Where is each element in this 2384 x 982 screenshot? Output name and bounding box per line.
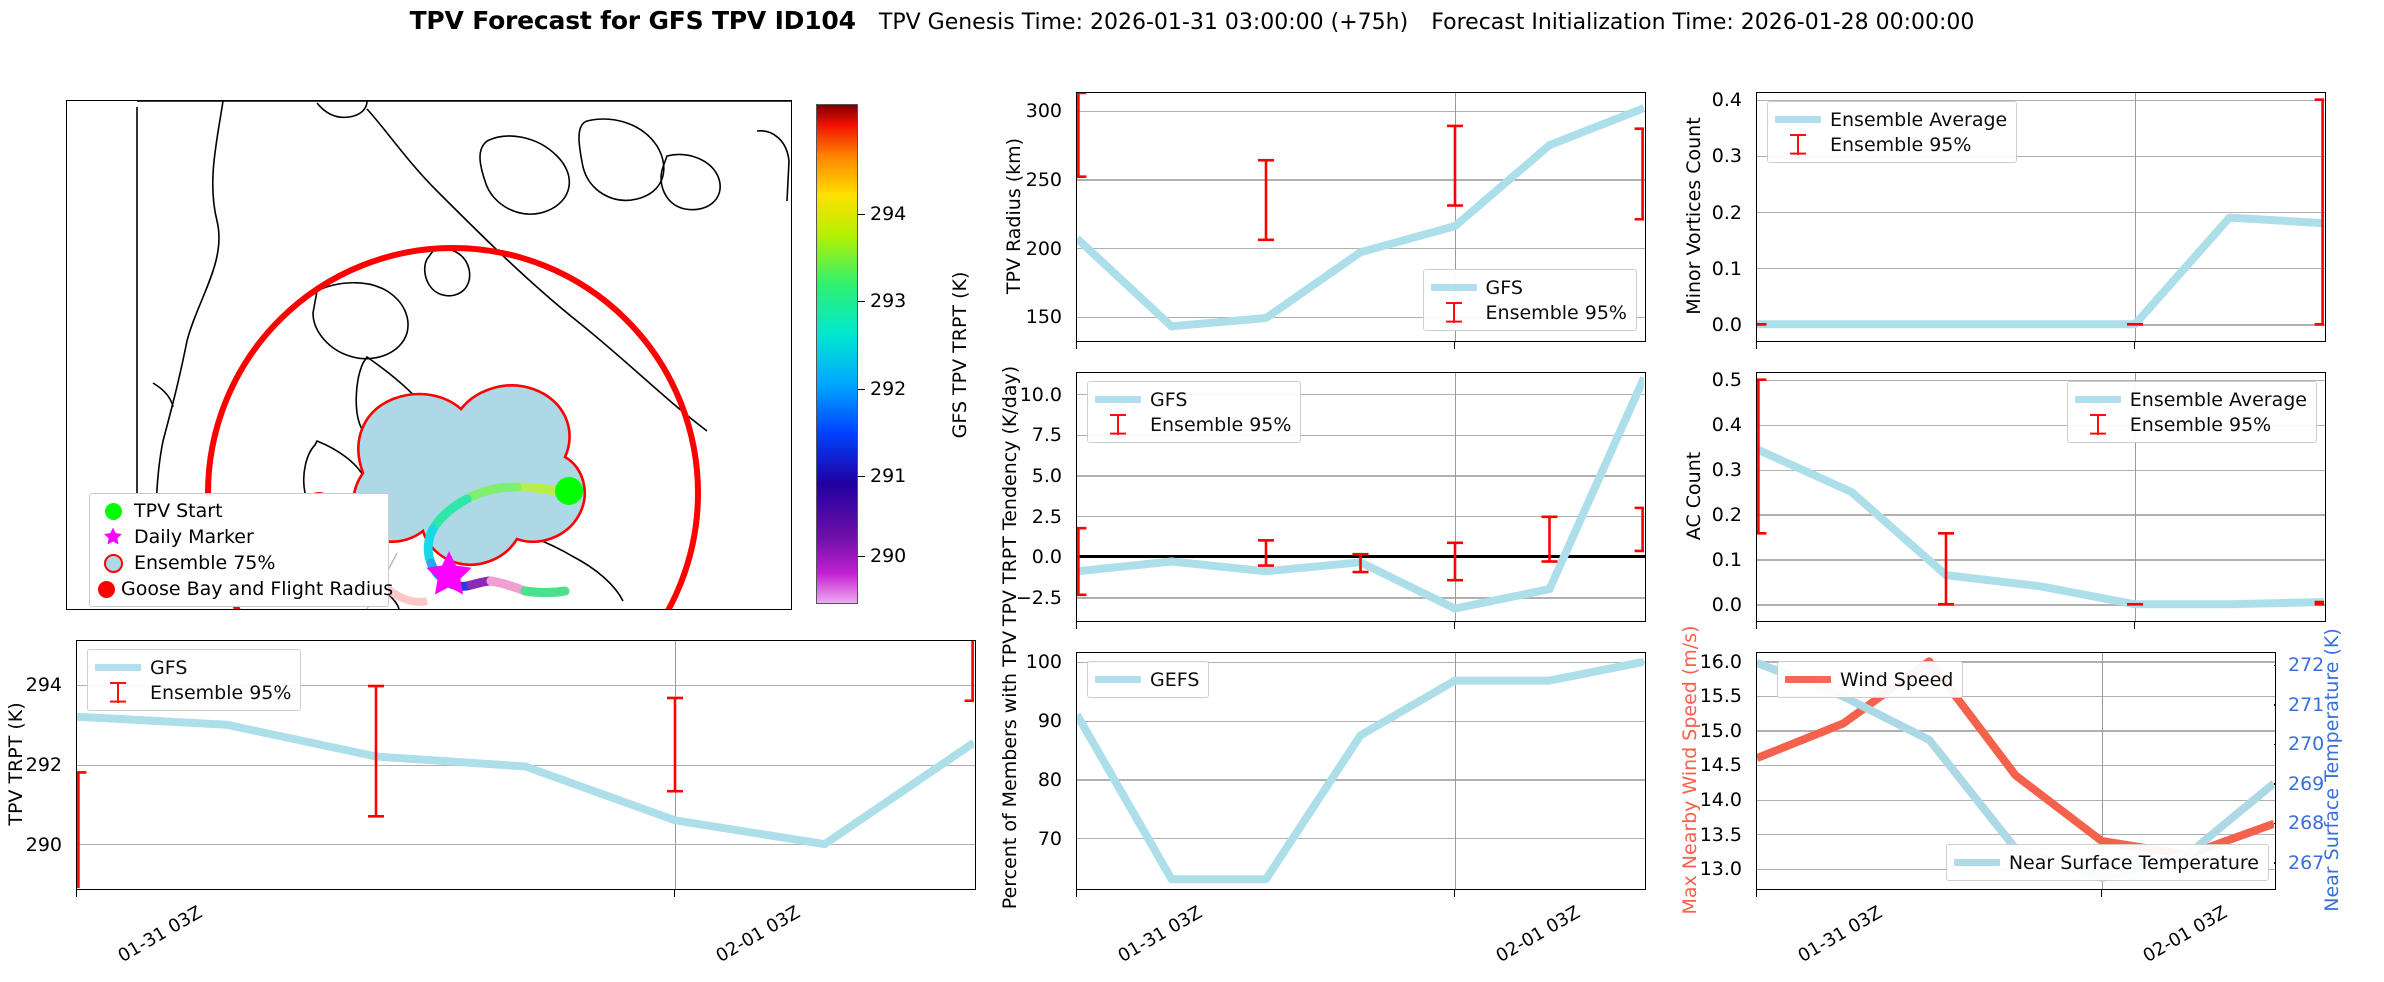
legend-row: Ensemble Average <box>2075 387 2307 412</box>
colorbar-tick-label: 290 <box>870 545 906 567</box>
legend-tpv-radius: GFSEnsemble 95% <box>1423 269 1637 331</box>
legend-label: Ensemble Average <box>1830 109 2007 131</box>
y-tick-label: 0.1 <box>1622 258 1742 280</box>
series-line-ensemble-average <box>1757 218 2324 325</box>
errorbar-icon <box>1431 302 1477 323</box>
y2-tick-label: 271 <box>2288 694 2324 716</box>
y-tick-label: 0.5 <box>1622 369 1742 391</box>
y-axis-label: Max Nearby Wind Speed (m/s) <box>1679 600 1701 940</box>
tpv-forecast-dashboard: TPV Forecast for GFS TPV ID104 TPV Genes… <box>0 0 2384 982</box>
errorbar-icon <box>1095 414 1141 435</box>
x-tickmark <box>1454 622 1455 629</box>
genesis-time: TPV Genesis Time: 2026-01-31 03:00:00 (+… <box>879 10 1408 35</box>
legend-label: Ensemble 75% <box>134 552 275 574</box>
legend-label: Ensemble 95% <box>2130 414 2271 436</box>
plot-area-trpt-tendency[interactable]: GFSEnsemble 95% <box>1076 372 1646 622</box>
y-tick-label: 0.2 <box>1622 202 1742 224</box>
legend-row: Ensemble 95% <box>1095 412 1291 437</box>
errorbar-icon <box>1775 134 1821 155</box>
line-swatch-icon <box>1954 859 2000 866</box>
line-swatch-icon <box>2075 396 2121 403</box>
line-swatch-icon <box>1775 116 1821 123</box>
legend-row: GFS <box>1095 387 1291 412</box>
y-tick-label: 0.3 <box>1622 145 1742 167</box>
line-swatch-icon <box>1431 284 1477 291</box>
x-tickmark <box>76 890 77 897</box>
x-tick-label: 01-31 03Z <box>1114 902 1205 967</box>
x-tickmark <box>1076 890 1077 897</box>
y-tick-label: 0.4 <box>1622 89 1742 111</box>
legend-minor-vortices: Ensemble AverageEnsemble 95% <box>1767 101 2017 163</box>
page-title: TPV Forecast for GFS TPV ID104 TPV Genes… <box>0 6 2384 35</box>
x-tick-label: 01-31 03Z <box>114 902 205 967</box>
x-tickmark <box>1756 622 1757 629</box>
legend-label: TPV Start <box>134 500 223 522</box>
x-tickmark <box>1454 890 1455 897</box>
legend-row: Wind Speed <box>1785 667 1953 692</box>
y2-tick-label: 268 <box>2288 812 2324 834</box>
y-tick-label: 0.0 <box>1622 314 1742 336</box>
init-time: Forecast Initialization Time: 2026-01-28… <box>1431 10 1974 35</box>
x-tick-label: 02-01 03Z <box>1492 902 1583 967</box>
colorbar-tick-label: 291 <box>870 465 906 487</box>
y2-tick-label: 267 <box>2288 852 2324 874</box>
x-tick-label: 02-01 03Z <box>712 902 803 967</box>
magenta-star-icon <box>98 526 128 548</box>
colorbar-tick-label: 292 <box>870 378 906 400</box>
x-tickmark <box>1076 342 1077 349</box>
y-tick-label: 0.3 <box>1622 459 1742 481</box>
plot-area-tpv-trpt[interactable]: GFSEnsemble 95% <box>76 640 976 890</box>
plot-area-minor-vortices[interactable]: Ensemble AverageEnsemble 95% <box>1756 92 2326 342</box>
y2-tickmark <box>2274 823 2276 824</box>
legend-item-tpv-start: TPV Start <box>98 498 378 524</box>
map-legend: TPV Start Daily Marker Ensemble 75% Goos… <box>89 493 389 607</box>
x-tickmark <box>2134 622 2135 629</box>
green-circle-icon <box>98 503 128 520</box>
legend-row: GEFS <box>1095 667 1199 692</box>
legend-label: GEFS <box>1150 669 1199 691</box>
series-line-ensemble-average <box>1757 449 2324 604</box>
x-tick-label: 02-01 03Z <box>2139 902 2230 967</box>
x-tickmark <box>1756 342 1757 349</box>
plot-area-gefs-percent[interactable]: GEFS <box>1076 652 1646 890</box>
tpv-start-marker <box>555 477 583 505</box>
legend-row: Near Surface Temperature <box>1954 850 2259 875</box>
y2-tickmark <box>2274 744 2276 745</box>
y-tick-label: 0.2 <box>1622 504 1742 526</box>
tpv-track-map[interactable]: TPV Start Daily Marker Ensemble 75% Goos… <box>66 100 792 610</box>
legend-ac-count: Ensemble AverageEnsemble 95% <box>2067 381 2317 443</box>
y-axis-label: Percent of Members with TPV <box>999 600 1021 940</box>
legend-label: Ensemble 95% <box>1830 134 1971 156</box>
y2-tick-label: 272 <box>2288 654 2324 676</box>
legend-label: Goose Bay and Flight Radius <box>121 578 393 600</box>
legend-row: Ensemble 95% <box>2075 412 2307 437</box>
main-title: TPV Forecast for GFS TPV ID104 <box>410 6 856 35</box>
legend-label: GFS <box>150 657 187 679</box>
y-tick-label: 0.4 <box>1622 414 1742 436</box>
line-swatch-icon <box>1785 676 1831 683</box>
legend-row: GFS <box>95 655 291 680</box>
plot-area-wind-temp[interactable]: Wind SpeedNear Surface Temperature <box>1756 652 2276 890</box>
legend-label: Ensemble 95% <box>150 682 291 704</box>
y-tick-label: 300 <box>942 100 1062 122</box>
y2-tick-label: 269 <box>2288 773 2324 795</box>
errorbar-icon <box>95 682 141 703</box>
y-tick-label: 0.1 <box>1622 549 1742 571</box>
y-tick-label: 250 <box>942 169 1062 191</box>
legend-row: Ensemble 95% <box>1431 300 1627 325</box>
y2-tick-label: 270 <box>2288 733 2324 755</box>
x-tickmark <box>674 890 675 897</box>
legend-item-daily-marker: Daily Marker <box>98 524 378 550</box>
y2-tickmark <box>2274 704 2276 705</box>
legend-item-goose-bay: Goose Bay and Flight Radius <box>98 576 378 602</box>
lightblue-circle-icon <box>98 554 128 573</box>
y2-tickmark <box>2274 862 2276 863</box>
y2-axis-label: Near Surface Temperature (K) <box>2321 620 2343 920</box>
y2-tickmark <box>2274 665 2276 666</box>
x-tick-label: 01-31 03Z <box>1794 902 1885 967</box>
legend-item-ensemble-75: Ensemble 75% <box>98 550 378 576</box>
x-tickmark <box>2134 342 2135 349</box>
line-swatch-icon <box>1095 396 1141 403</box>
legend-label: Ensemble Average <box>2130 389 2307 411</box>
plot-area-ac-count[interactable]: Ensemble AverageEnsemble 95% <box>1756 372 2326 622</box>
y-tick-label: 200 <box>942 238 1062 260</box>
legend-label: Daily Marker <box>134 526 254 548</box>
colorbar-tick-label: 293 <box>870 290 906 312</box>
legend-trpt-tendency: GFSEnsemble 95% <box>1087 381 1301 443</box>
legend-gefs-percent: GEFS <box>1087 661 1209 698</box>
x-tickmark <box>1454 342 1455 349</box>
y-tick-label: 150 <box>942 306 1062 328</box>
colorbar-tick-label: 294 <box>870 203 906 225</box>
x-tickmark <box>1076 622 1077 629</box>
line-swatch-icon <box>95 664 141 671</box>
legend-wind-temp: Wind Speed <box>1777 661 1963 698</box>
x-tickmark <box>1756 890 1757 897</box>
legend-tpv-trpt: GFSEnsemble 95% <box>87 649 301 711</box>
legend-label: Wind Speed <box>1840 669 1953 691</box>
x-tickmark <box>2101 890 2102 897</box>
y-axis-label: TPV TRPT (K) <box>5 594 27 934</box>
legend-row: Ensemble 95% <box>95 680 291 705</box>
legend-label: Ensemble 95% <box>1150 414 1291 436</box>
errorbar-icon <box>2075 414 2121 435</box>
line-swatch-icon <box>1095 676 1141 683</box>
plot-area-tpv-radius[interactable]: GFSEnsemble 95% <box>1076 92 1646 342</box>
series-line-gfs <box>77 717 974 845</box>
legend-row: Ensemble 95% <box>1775 132 2007 157</box>
legend-label: GFS <box>1486 277 1523 299</box>
colorbar <box>816 104 858 604</box>
legend-label: GFS <box>1150 389 1187 411</box>
legend-row: Ensemble Average <box>1775 107 2007 132</box>
legend-label: Near Surface Temperature <box>2009 852 2259 874</box>
y2-tickmark <box>2274 783 2276 784</box>
legend-label: Ensemble 95% <box>1486 302 1627 324</box>
legend-row: GFS <box>1431 275 1627 300</box>
legend-wind-temp-2: Near Surface Temperature <box>1946 844 2269 881</box>
red-circle-icon <box>98 581 115 598</box>
